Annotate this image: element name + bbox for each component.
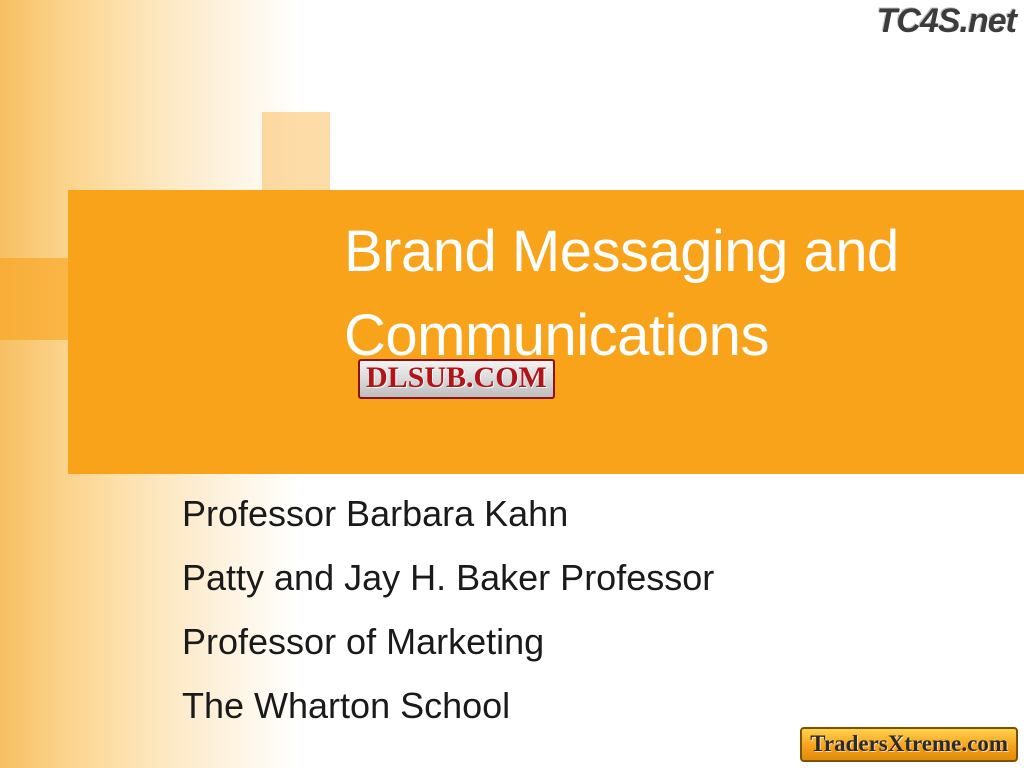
slide-title-line-1: Brand Messaging and [344, 210, 1004, 294]
presentation-slide: Brand Messaging and Communications Profe… [0, 0, 1024, 768]
watermark-dlsub: DLSUB.COM [358, 359, 555, 399]
subtitle-line-3: Professor of Marketing [182, 610, 982, 674]
subtitle-line-1: Professor Barbara Kahn [182, 482, 982, 546]
subtitle-block: Professor Barbara Kahn Patty and Jay H. … [182, 482, 982, 738]
watermark-tc4s: TC4S.net [877, 2, 1016, 41]
title-block: Brand Messaging and Communications [344, 210, 1004, 378]
watermark-tradersxtreme: TradersXtreme.com [800, 727, 1018, 762]
subtitle-line-2: Patty and Jay H. Baker Professor [182, 546, 982, 610]
title-band: Brand Messaging and Communications [68, 190, 1024, 474]
mosaic-square [262, 112, 330, 190]
mosaic-square [0, 258, 72, 340]
